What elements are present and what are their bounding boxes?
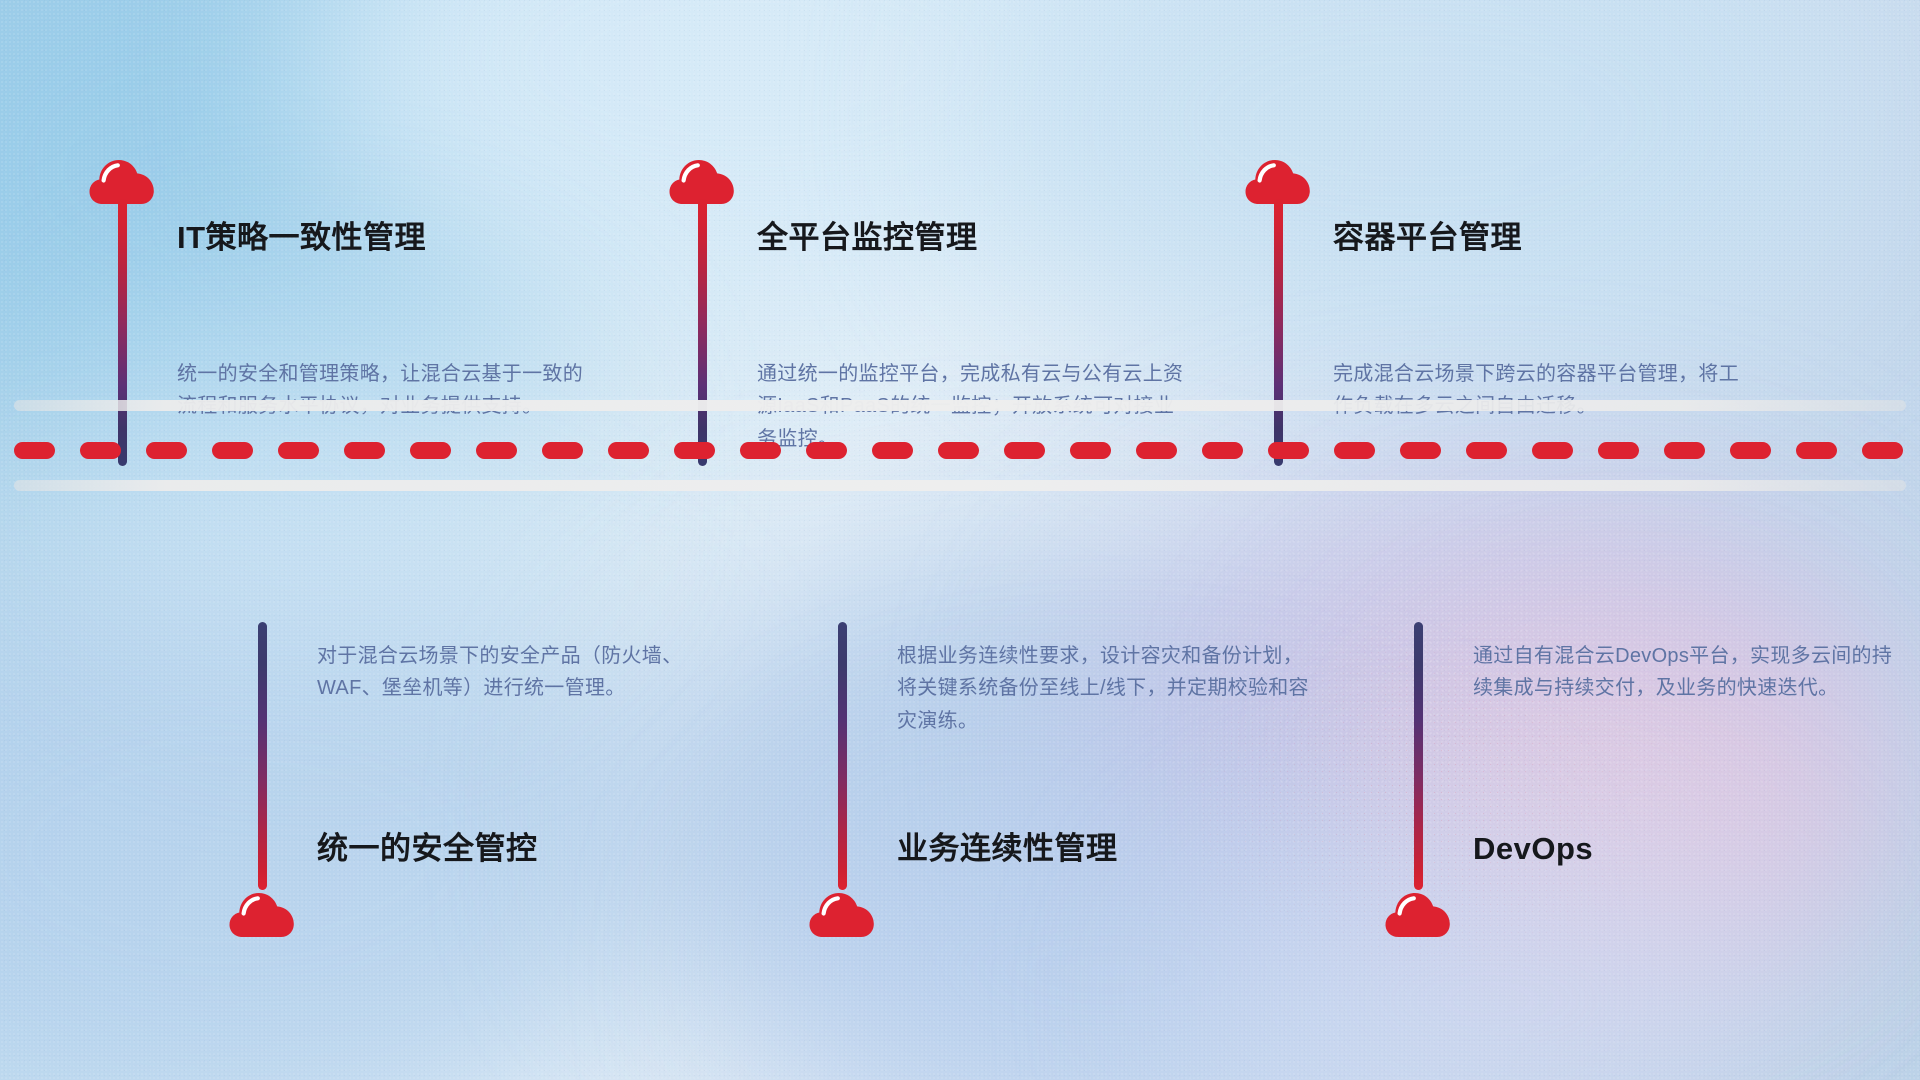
divider-dash [1664,442,1705,459]
timeline-divider [0,441,1920,459]
timeline-stem [258,622,267,890]
divider-dash [212,442,253,459]
divider-dash [674,442,715,459]
divider-dash [1862,442,1903,459]
item-body: 根据业务连续性要求，设计容灾和备份计划，将关键系统备份至线上/线下，并定期校验和… [897,640,1317,737]
timeline-stem [118,198,127,466]
divider-dash [1400,442,1441,459]
divider-dash [410,442,451,459]
divider-dash [344,442,385,459]
timeline-stem [698,198,707,466]
divider-dash [1004,442,1045,459]
item-heading: 容器平台管理 [1333,221,1522,255]
cloud-icon [1385,888,1451,938]
item-body: 对于混合云场景下的安全产品（防火墙、WAF、堡垒机等）进行统一管理。 [317,640,737,705]
item-body: 统一的安全和管理策略，让混合云基于一致的流程和服务水平协议，对业务提供支持。 [177,358,595,423]
divider-dash [872,442,913,459]
divider-dash [1202,442,1243,459]
item-heading: 统一的安全管控 [317,832,538,866]
cloud-icon [809,888,875,938]
divider-dash [542,442,583,459]
divider-dash [1532,442,1573,459]
divider-dash [1796,442,1837,459]
item-body: 通过自有混合云DevOps平台，实现多云间的持续集成与持续交付，及业务的快速迭代… [1473,640,1893,705]
divider-dash [146,442,187,459]
divider-dash [1070,442,1111,459]
timeline-stem [1274,198,1283,466]
divider-dash [278,442,319,459]
divider-dash [1730,442,1771,459]
divider-dash [608,442,649,459]
cloud-icon [229,888,295,938]
item-heading: 业务连续性管理 [897,832,1118,866]
divider-dash [1136,442,1177,459]
divider-dash [14,442,55,459]
divider-dash [740,442,781,459]
divider-dash [476,442,517,459]
divider-rail-top [14,400,1906,411]
timeline-stem [1414,622,1423,890]
item-body: 完成混合云场景下跨云的容器平台管理，将工作负载在多云之间自由迁移。 [1333,358,1751,423]
item-heading: 全平台监控管理 [757,221,978,255]
divider-dash [1466,442,1507,459]
divider-rail-bottom [14,480,1906,491]
item-heading: IT策略一致性管理 [177,221,426,255]
divider-dash [1598,442,1639,459]
divider-dash [1334,442,1375,459]
item-heading: DevOps [1473,832,1593,866]
divider-dash [938,442,979,459]
infographic-canvas: IT策略一致性管理 统一的安全和管理策略，让混合云基于一致的流程和服务水平协议，… [0,0,1920,1080]
timeline-stem [838,622,847,890]
divider-dash [1268,442,1309,459]
divider-dash [80,442,121,459]
divider-dash [806,442,847,459]
